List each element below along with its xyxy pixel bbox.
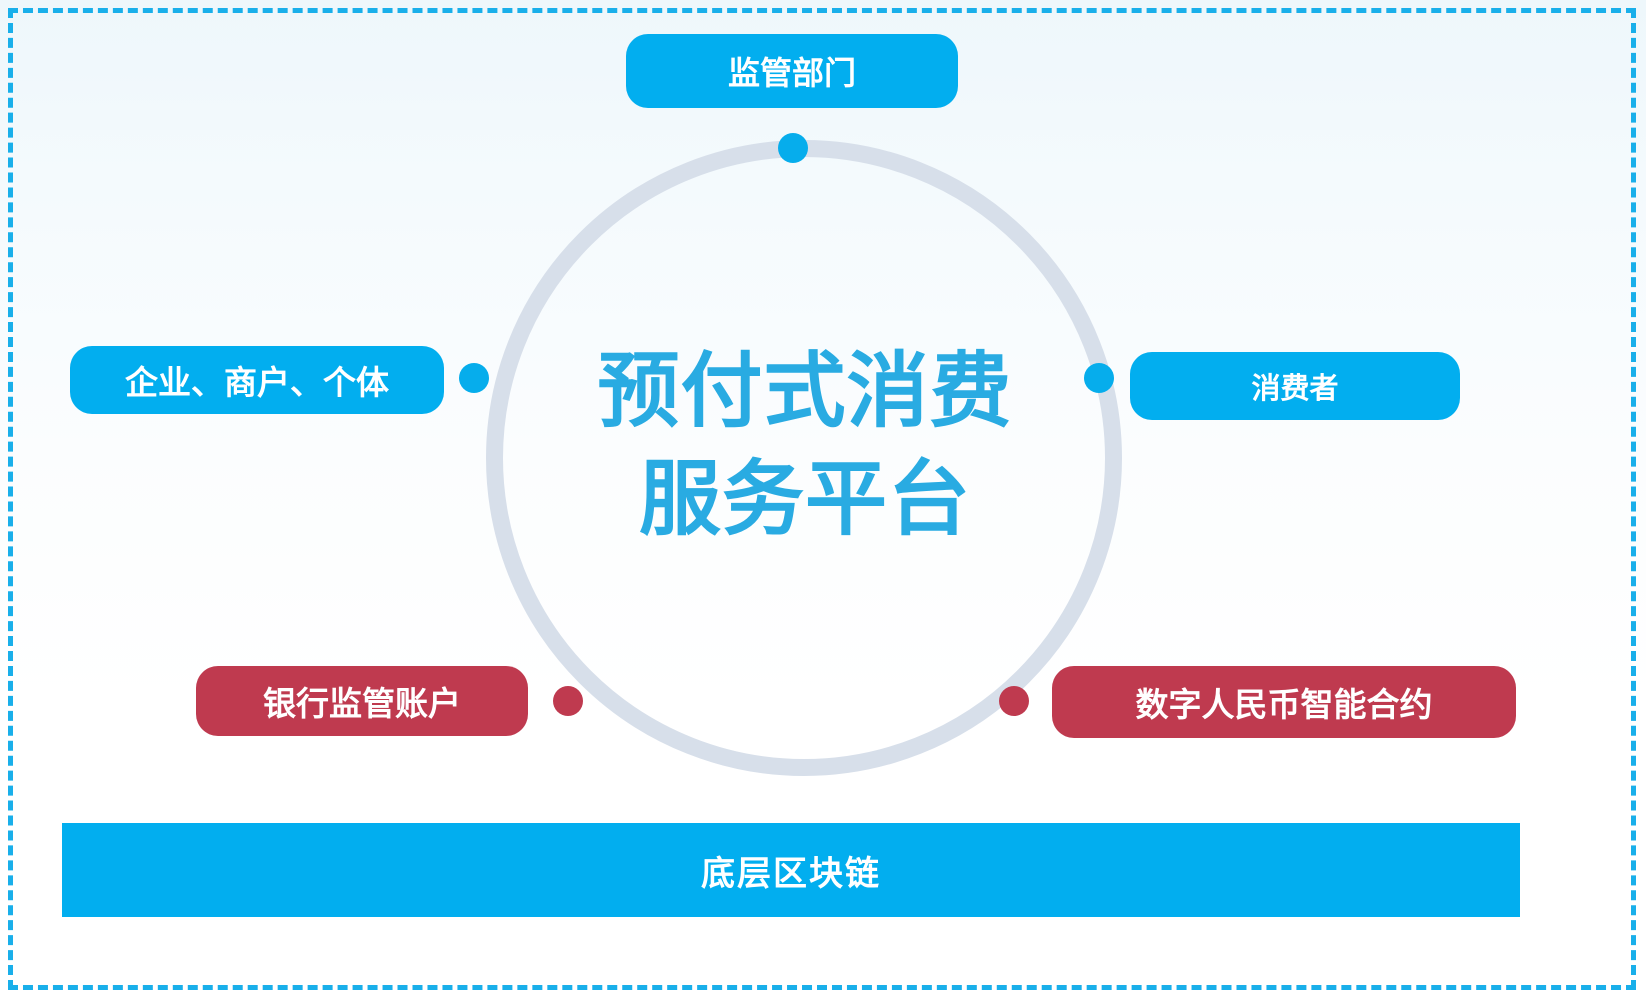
connector-dot-right bbox=[1084, 363, 1114, 393]
connector-dot-top bbox=[778, 133, 808, 163]
node-label-enterprises-merchants-individuals[interactable]: 企业、商户、个体 bbox=[70, 346, 444, 414]
diagram-canvas: 预付式消费 服务平台 监管部门 企业、商户、个体 消费者 银行监管账户 数字人民… bbox=[0, 0, 1646, 1000]
center-platform-title: 预付式消费 服务平台 bbox=[560, 338, 1050, 554]
connector-dot-bottom-left bbox=[553, 686, 583, 716]
node-label-bank-supervision-account[interactable]: 银行监管账户 bbox=[196, 666, 528, 736]
node-label-regulator[interactable]: 监管部门 bbox=[626, 34, 958, 108]
node-label-consumer[interactable]: 消费者 bbox=[1130, 352, 1460, 420]
underlying-blockchain-bar[interactable]: 底层区块链 bbox=[62, 823, 1520, 917]
node-label-digital-rmb-smart-contract[interactable]: 数字人民币智能合约 bbox=[1052, 666, 1516, 738]
connector-dot-left bbox=[459, 363, 489, 393]
connector-dot-bottom-right bbox=[999, 686, 1029, 716]
